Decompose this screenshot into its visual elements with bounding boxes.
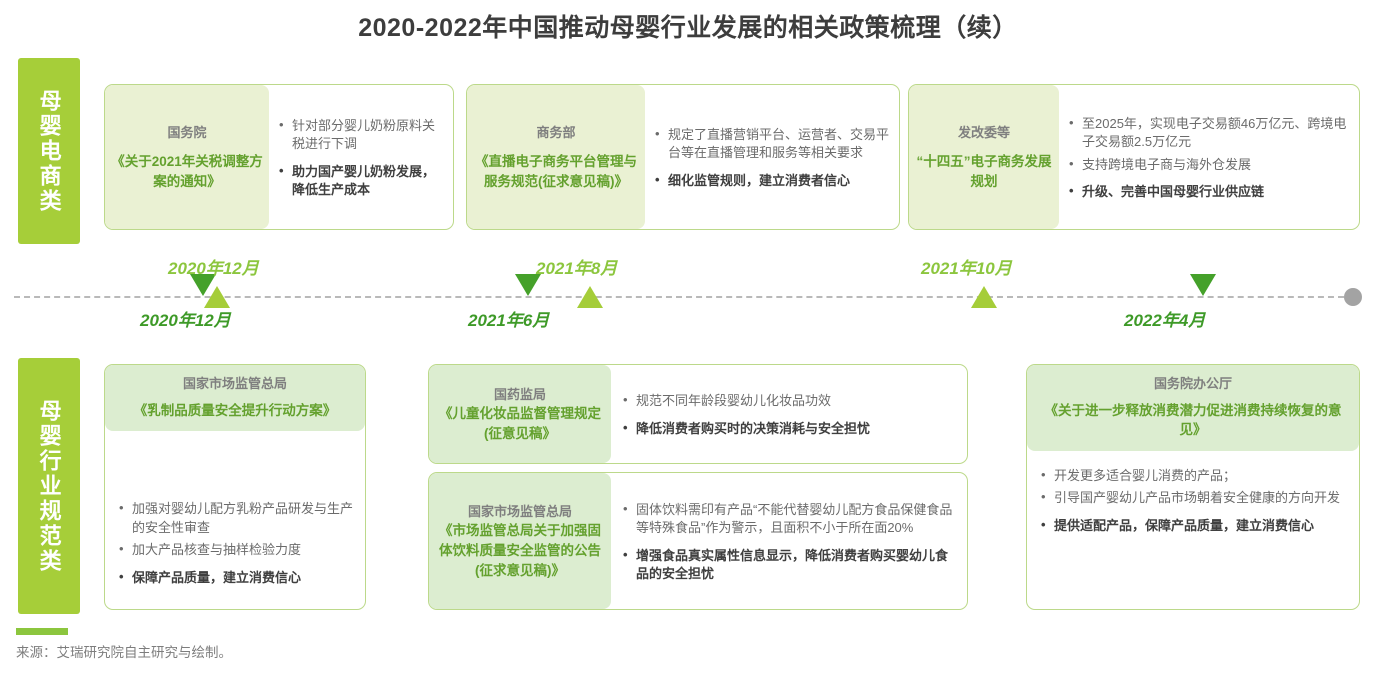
policy-bullet-list: 规定了直播营销平台、运营者、交易平台等在直播管理和服务等相关要求 细化监管规则，…	[645, 85, 899, 229]
policy-bullet: 固体饮料需印有产品“不能代替婴幼儿配方食品保健食品等特殊食品”作为警示，且面积不…	[623, 501, 957, 538]
policy-bullet: 引导国产婴幼儿产品市场朝着安全健康的方向开发	[1041, 489, 1347, 507]
policy-title: “十四五”电子商务发展规划	[913, 152, 1055, 191]
policy-agency: 商务部	[536, 123, 575, 143]
policy-card-header: 国家市场监管总局 《市场监管总局关于加强固体饮料质量安全监管的公告(征求意见稿)…	[429, 473, 611, 609]
policy-bullet: 提供适配产品，保障产品质量，建立消费信心	[1041, 517, 1347, 535]
policy-bullet: 升级、完善中国母婴行业供应链	[1069, 183, 1351, 201]
timeline-label: 2020年12月	[140, 306, 231, 331]
policy-card[interactable]: 发改委等 “十四五”电子商务发展规划 至2025年，实现电子交易额46万亿元、跨…	[908, 84, 1360, 230]
policy-card[interactable]: 国家市场监管总局 《市场监管总局关于加强固体饮料质量安全监管的公告(征求意见稿)…	[428, 472, 968, 610]
policy-bullet-list: 开发更多适合婴儿消费的产品； 引导国产婴幼儿产品市场朝着安全健康的方向开发 提供…	[1027, 451, 1359, 609]
policy-agency: 国务院办公厅	[1035, 374, 1351, 394]
policy-bullet: 支持跨境电子商与海外仓发展	[1069, 156, 1351, 174]
policy-card[interactable]: 国务院 《关于2021年关税调整方案的通知》 针对部分婴儿奶粉原料关税进行下调 …	[104, 84, 454, 230]
policy-bullet: 增强食品真实属性信息显示，降低消费者购买婴幼儿食品的安全担忧	[623, 547, 957, 584]
category-band-ecommerce: 母婴电商类	[18, 58, 80, 244]
category-band-regulation-label: 母婴行业规范类	[36, 399, 61, 574]
policy-bullet-list: 至2025年，实现电子交易额46万亿元、跨境电子交易额2.5万亿元 支持跨境电子…	[1059, 85, 1359, 229]
timeline-label: 2021年6月	[468, 306, 549, 331]
page-title: 2020-2022年中国推动母婴行业发展的相关政策梳理（续）	[0, 8, 1376, 44]
timeline-marker-up-triangle[interactable]	[204, 286, 230, 308]
policy-bullet: 加强对婴幼儿配方乳粉产品研发与生产的安全性审查	[119, 500, 353, 537]
policy-bullet-list: 加强对婴幼儿配方乳粉产品研发与生产的安全性审查 加大产品核查与抽样检验力度 保障…	[105, 431, 365, 609]
policy-bullet: 至2025年，实现电子交易额46万亿元、跨境电子交易额2.5万亿元	[1069, 115, 1351, 152]
policy-card[interactable]: 国务院办公厅 《关于进一步释放消费潜力促进消费持续恢复的意见》 开发更多适合婴儿…	[1026, 364, 1360, 610]
policy-bullet: 降低消费者购买时的决策消耗与安全担忧	[623, 420, 957, 438]
policy-bullet: 助力国产婴儿奶粉发展，降低生产成本	[279, 163, 445, 200]
timeline-label: 2021年10月	[921, 254, 1012, 279]
policy-title: 《关于进一步释放消费潜力促进消费持续恢复的意见》	[1035, 401, 1351, 440]
policy-bullet: 开发更多适合婴儿消费的产品；	[1041, 467, 1347, 485]
policy-bullet: 规范不同年龄段婴幼儿化妆品功效	[623, 392, 957, 410]
policy-card-header: 发改委等 “十四五”电子商务发展规划	[909, 85, 1059, 229]
policy-agency: 国药监局	[494, 385, 546, 405]
policy-bullet: 针对部分婴儿奶粉原料关税进行下调	[279, 117, 445, 154]
policy-title: 《市场监管总局关于加强固体饮料质量安全监管的公告(征求意见稿)》	[433, 521, 607, 580]
timeline-label: 2022年4月	[1124, 306, 1205, 331]
footer-accent-bar	[16, 628, 68, 635]
timeline-marker-up-triangle[interactable]	[971, 286, 997, 308]
policy-card-header: 国务院 《关于2021年关税调整方案的通知》	[105, 85, 269, 229]
category-band-ecommerce-label: 母婴电商类	[36, 89, 61, 214]
policy-bullet: 规定了直播营销平台、运营者、交易平台等在直播管理和服务等相关要求	[655, 126, 891, 163]
policy-card-header: 商务部 《直播电子商务平台管理与服务规范(征求意见稿)》	[467, 85, 645, 229]
timeline-end-dot	[1344, 288, 1362, 306]
timeline: 2020年12月 2020年12月 2021年6月 2021年8月 2021年1…	[0, 290, 1376, 304]
policy-title: 《直播电子商务平台管理与服务规范(征求意见稿)》	[471, 152, 641, 191]
policy-bullet: 细化监管规则，建立消费者信心	[655, 172, 891, 190]
source-note: 来源：艾瑞研究院自主研究与绘制。	[16, 641, 232, 661]
timeline-marker-up-triangle[interactable]	[577, 286, 603, 308]
policy-title: 《关于2021年关税调整方案的通知》	[109, 152, 265, 191]
policy-title: 《儿童化妆品监督管理规定(征意见稿》	[433, 404, 607, 443]
policy-title: 《乳制品质量安全提升行动方案》	[113, 401, 357, 421]
policy-bullet-list: 规范不同年龄段婴幼儿化妆品功效 降低消费者购买时的决策消耗与安全担忧	[611, 365, 967, 463]
policy-bullet-list: 固体饮料需印有产品“不能代替婴幼儿配方食品保健食品等特殊食品”作为警示，且面积不…	[611, 473, 967, 609]
policy-card[interactable]: 国药监局 《儿童化妆品监督管理规定(征意见稿》 规范不同年龄段婴幼儿化妆品功效 …	[428, 364, 968, 464]
policy-bullet-list: 针对部分婴儿奶粉原料关税进行下调 助力国产婴儿奶粉发展，降低生产成本	[269, 85, 453, 229]
policy-card-header: 国家市场监管总局 《乳制品质量安全提升行动方案》	[105, 365, 365, 431]
policy-agency: 国家市场监管总局	[113, 374, 357, 394]
timeline-marker-down-triangle[interactable]	[1190, 274, 1216, 296]
policy-agency: 发改委等	[958, 123, 1010, 143]
policy-agency: 国家市场监管总局	[468, 502, 572, 522]
policy-card-header: 国务院办公厅 《关于进一步释放消费潜力促进消费持续恢复的意见》	[1027, 365, 1359, 451]
policy-bullet: 加大产品核查与抽样检验力度	[119, 541, 353, 559]
policy-card-header: 国药监局 《儿童化妆品监督管理规定(征意见稿》	[429, 365, 611, 463]
policy-bullet: 保障产品质量，建立消费信心	[119, 569, 353, 587]
policy-agency: 国务院	[167, 123, 206, 143]
policy-card[interactable]: 商务部 《直播电子商务平台管理与服务规范(征求意见稿)》 规定了直播营销平台、运…	[466, 84, 900, 230]
category-band-regulation: 母婴行业规范类	[18, 358, 80, 614]
timeline-label: 2021年8月	[536, 254, 617, 279]
policy-card[interactable]: 国家市场监管总局 《乳制品质量安全提升行动方案》 加强对婴幼儿配方乳粉产品研发与…	[104, 364, 366, 610]
timeline-label: 2020年12月	[168, 254, 259, 279]
